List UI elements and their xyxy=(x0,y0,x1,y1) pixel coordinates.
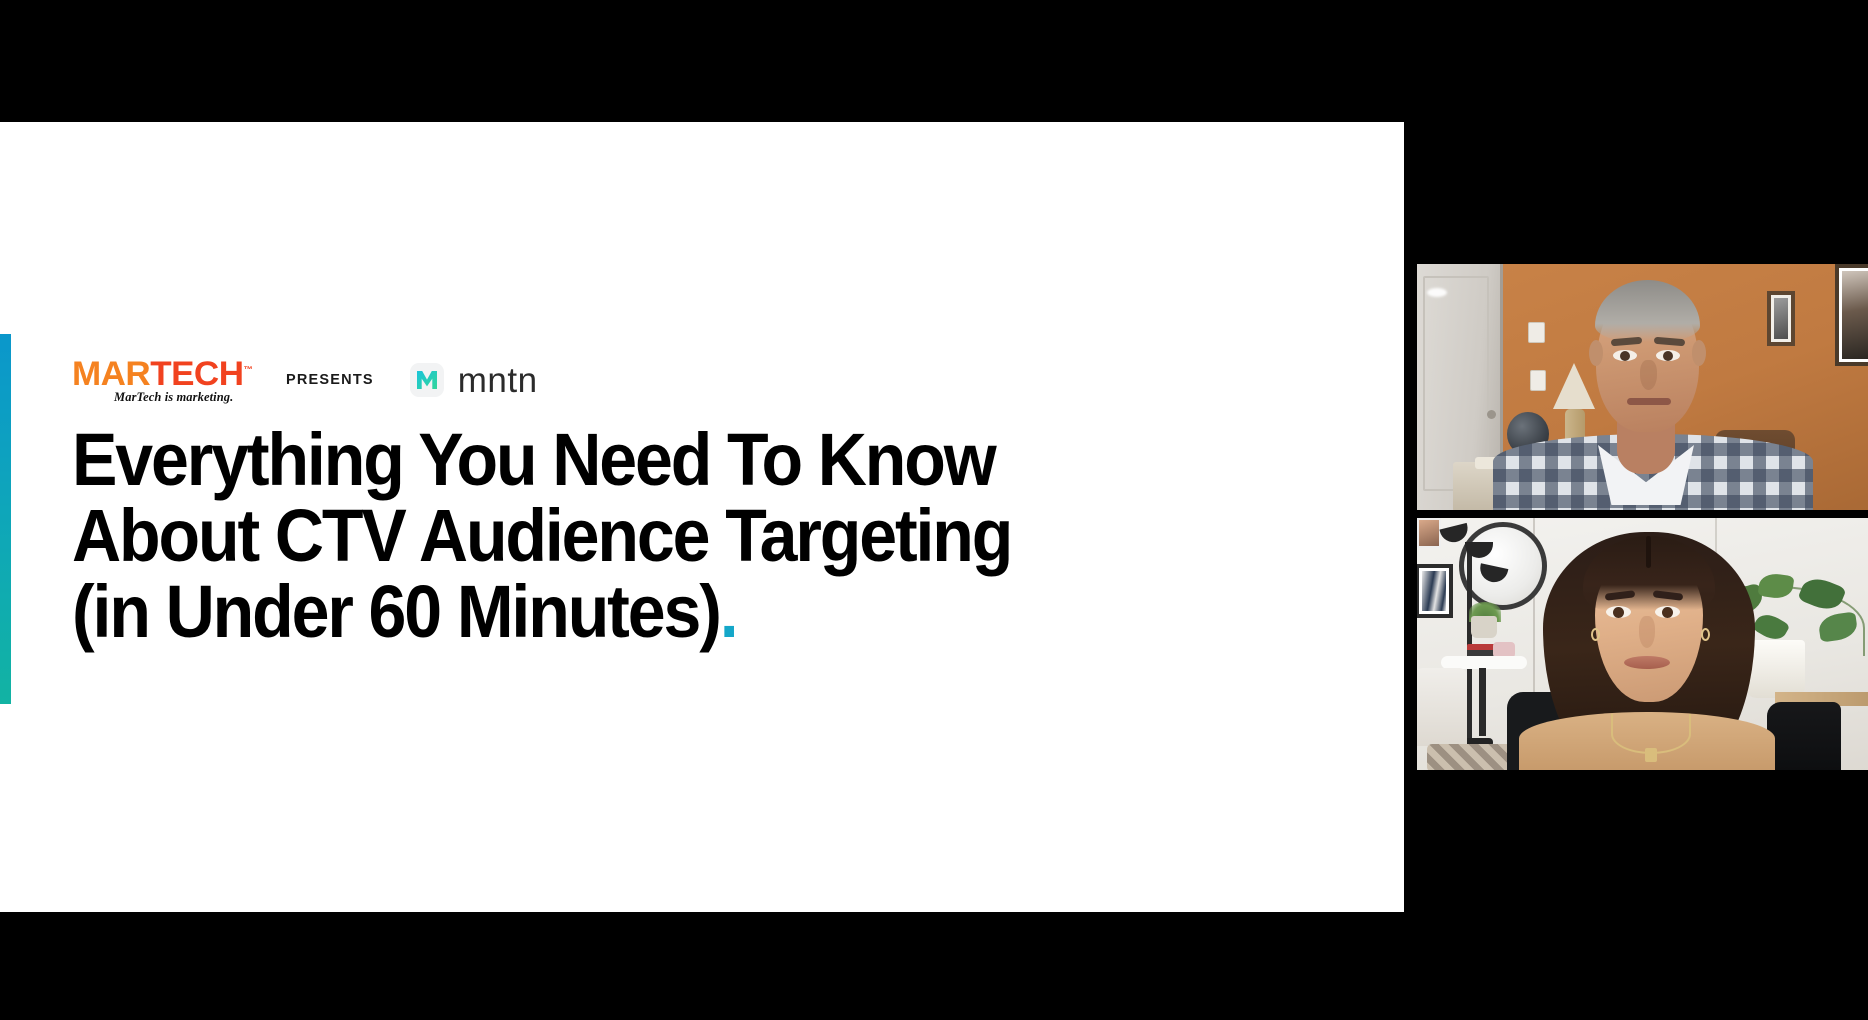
headline-accent-dot: . xyxy=(720,570,738,653)
martech-word-part-1: MAR xyxy=(72,355,150,393)
dark-chair xyxy=(1767,702,1841,772)
framed-artwork xyxy=(1415,564,1453,618)
headline-line-3-wrap: (in Under 60 Minutes). xyxy=(72,574,1011,650)
door-knob-icon xyxy=(1487,410,1496,419)
tile-edge-left xyxy=(1415,516,1417,772)
headline-line-1: Everything You Need To Know xyxy=(72,422,1011,498)
earring-left xyxy=(1591,628,1600,641)
slide-content: MARTECH™ MarTech is marketing. PRESENTS xyxy=(72,122,1322,912)
slide-headline: Everything You Need To Know About CTV Au… xyxy=(72,422,1011,651)
eye-left xyxy=(1606,606,1631,618)
ceiling-light-reflection xyxy=(1427,288,1447,297)
video-scene-top xyxy=(1415,262,1868,512)
martech-wordmark: MARTECH™ xyxy=(72,357,252,391)
side-table-leg xyxy=(1479,668,1486,736)
presenter-video-top[interactable] xyxy=(1415,262,1868,512)
lips xyxy=(1624,656,1670,669)
left-accent-bar xyxy=(0,334,11,704)
necklace-pendant xyxy=(1645,748,1657,762)
couch xyxy=(1415,668,1467,746)
lamp-shade xyxy=(1553,363,1595,409)
eye-right xyxy=(1656,350,1680,361)
martech-tagline: MarTech is marketing. xyxy=(114,390,233,405)
wall-frame-large xyxy=(1835,264,1868,366)
tile-edge-bottom xyxy=(1415,770,1868,772)
headline-line-3: (in Under 60 Minutes) xyxy=(72,570,720,653)
wall-thermostat xyxy=(1528,322,1545,343)
presentation-slide[interactable]: MARTECH™ MarTech is marketing. PRESENTS xyxy=(0,122,1404,912)
video-scene-bottom xyxy=(1415,516,1868,772)
logo-row: MARTECH™ MarTech is marketing. PRESENTS xyxy=(72,356,538,404)
presenter-video-bottom[interactable] xyxy=(1415,516,1868,772)
tile-edge-left xyxy=(1415,262,1417,512)
ear-left xyxy=(1589,340,1603,366)
trademark-symbol: ™ xyxy=(243,365,252,375)
headline-line-2: About CTV Audience Targeting xyxy=(72,498,1011,574)
tile-edge-top xyxy=(1415,516,1868,518)
mouth xyxy=(1627,398,1671,405)
mntn-m-icon xyxy=(410,363,444,397)
presents-label: PRESENTS xyxy=(286,372,374,388)
earring-right xyxy=(1701,628,1710,641)
eye-left xyxy=(1613,350,1637,361)
nose xyxy=(1639,616,1655,648)
mntn-wordmark: mntn xyxy=(458,363,538,398)
martech-word-part-2: TECH xyxy=(150,355,243,393)
wall-frame-small xyxy=(1767,291,1795,346)
leaf xyxy=(1797,573,1846,615)
martech-logo: MARTECH™ MarTech is marketing. xyxy=(72,357,244,403)
round-mirror xyxy=(1459,522,1547,610)
light-switch xyxy=(1530,370,1546,391)
wall-photo-small xyxy=(1417,518,1441,548)
leaf xyxy=(1817,611,1858,642)
nose xyxy=(1640,360,1657,390)
tile-edge-top xyxy=(1415,262,1868,264)
presenter-hair xyxy=(1595,280,1700,342)
small-plant-pot xyxy=(1471,616,1497,638)
leaf xyxy=(1757,572,1794,600)
eye-right xyxy=(1655,606,1680,618)
screen-share-stage: MARTECH™ MarTech is marketing. PRESENTS xyxy=(0,0,1868,1020)
mntn-logo: mntn xyxy=(410,363,538,398)
tile-edge-bottom xyxy=(1415,510,1868,512)
hair-part xyxy=(1646,536,1651,568)
ear-right xyxy=(1692,340,1706,366)
